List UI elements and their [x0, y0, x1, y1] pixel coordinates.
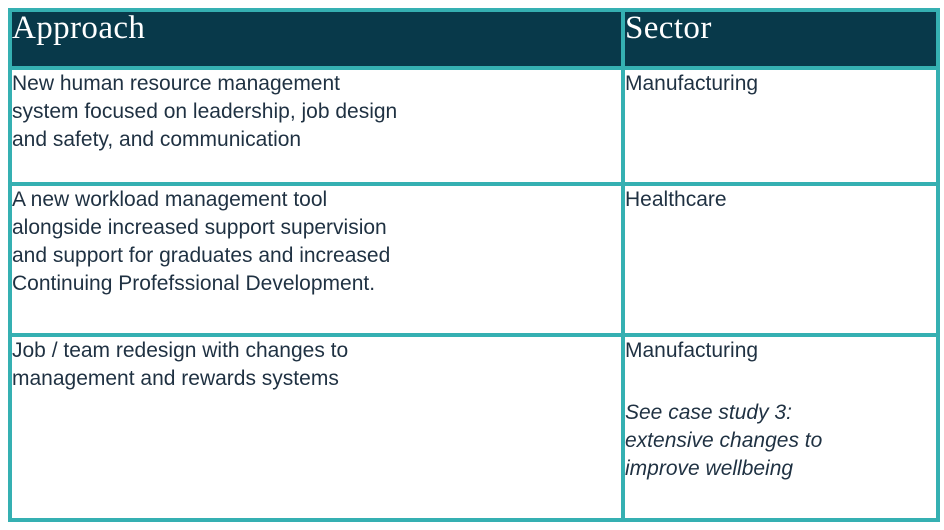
page-canvas: Approach Sector New human resource manag…	[0, 0, 944, 530]
cell-sector: Healthcare	[623, 184, 938, 335]
approach-line: and support for graduates and increased	[12, 242, 621, 270]
cell-approach: Job / team redesign with changes to mana…	[10, 335, 623, 520]
approach-line: and safety, and communication	[12, 126, 621, 154]
approach-line: system focused on leadership, job design	[12, 98, 621, 126]
cell-approach: New human resource management system foc…	[10, 68, 623, 184]
table-header: Approach Sector	[10, 10, 938, 68]
table-row: Job / team redesign with changes to mana…	[10, 335, 938, 520]
table-container: Approach Sector New human resource manag…	[8, 8, 936, 514]
table-row: A new workload management tool alongside…	[10, 184, 938, 335]
header-row: Approach Sector	[10, 10, 938, 68]
cell-sector: Manufacturing See case study 3: extensiv…	[623, 335, 938, 520]
approach-sector-table: Approach Sector New human resource manag…	[8, 8, 940, 522]
approach-line: Job / team redesign with changes to	[12, 337, 621, 365]
note-line: See case study 3:	[625, 399, 936, 427]
sector-value: Manufacturing	[625, 70, 936, 98]
approach-line: A new workload management tool	[12, 186, 621, 214]
column-header-sector: Sector	[623, 10, 938, 68]
note-line: extensive changes to	[625, 427, 936, 455]
sector-cross-reference-note: See case study 3: extensive changes to i…	[625, 399, 936, 483]
sector-value: Manufacturing	[625, 337, 936, 365]
note-line: improve wellbeing	[625, 455, 936, 483]
cell-approach: A new workload management tool alongside…	[10, 184, 623, 335]
column-header-approach: Approach	[10, 10, 623, 68]
cell-sector: Manufacturing	[623, 68, 938, 184]
table-row: New human resource management system foc…	[10, 68, 938, 184]
approach-line: alongside increased support supervision	[12, 214, 621, 242]
approach-line: Continuing Profefssional Development.	[12, 270, 621, 298]
approach-line: New human resource management	[12, 70, 621, 98]
approach-line: management and rewards systems	[12, 365, 621, 393]
sector-value: Healthcare	[625, 186, 936, 214]
table-body: New human resource management system foc…	[10, 68, 938, 520]
